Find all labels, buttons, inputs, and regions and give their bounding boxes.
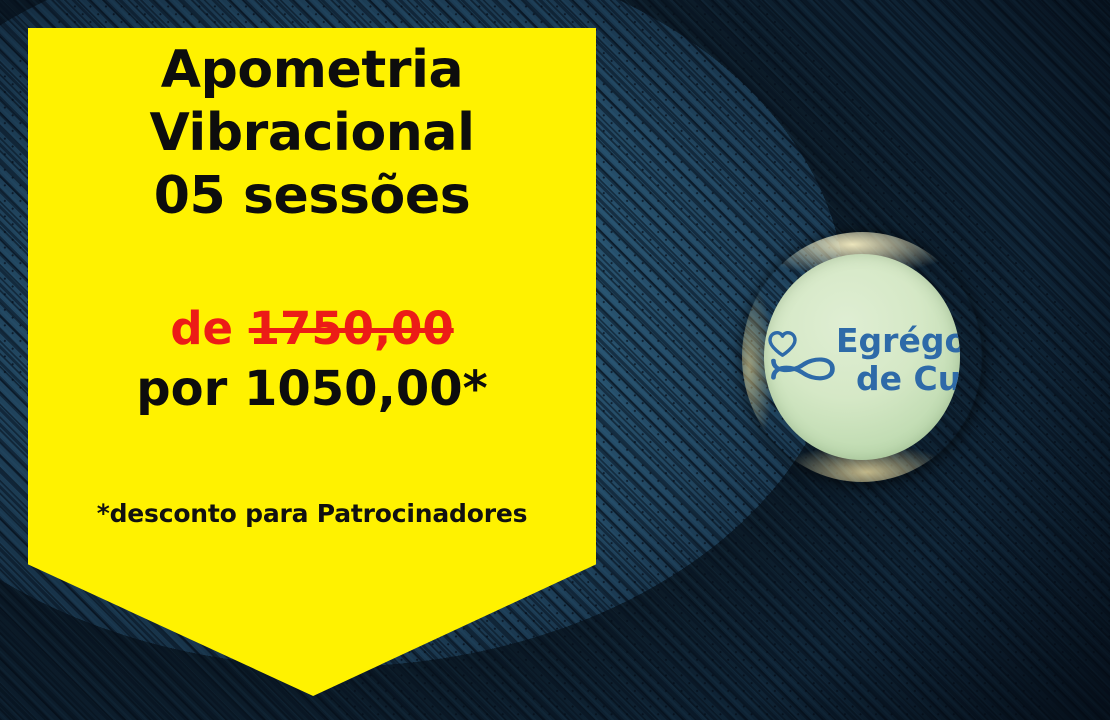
offer-title-line-2: Vibracional bbox=[28, 102, 596, 165]
offer-footnote: *desconto para Patrocinadores bbox=[28, 498, 596, 530]
heart-icon bbox=[770, 333, 795, 355]
emblem-face: Egrégora de Cura bbox=[764, 254, 960, 460]
new-price-prefix: por bbox=[136, 361, 244, 417]
offer-banner-content: Apometria Vibracional 05 sessões de 1750… bbox=[28, 28, 596, 530]
offer-title-line-1: Apometria bbox=[28, 39, 596, 102]
offer-banner: Apometria Vibracional 05 sessões de 1750… bbox=[28, 28, 596, 696]
old-price-row: de 1750,00 bbox=[28, 300, 596, 358]
brand-line-1-text: Egrégora bbox=[836, 321, 960, 360]
price-block: de 1750,00 por 1050,00* bbox=[28, 300, 596, 420]
infinity-icon bbox=[773, 360, 832, 379]
old-price-value: 1750,00 bbox=[249, 302, 454, 355]
offer-title-line-3: 05 sessões bbox=[28, 165, 596, 228]
offer-title: Apometria Vibracional 05 sessões bbox=[28, 39, 596, 228]
brand-emblem: Egrégora de Cura bbox=[742, 232, 982, 482]
brand-logo-svg: Egrégora de Cura bbox=[764, 310, 960, 400]
brand-line-2-text: de Cura bbox=[856, 359, 960, 398]
brand-logo: Egrégora de Cura bbox=[764, 310, 960, 400]
poster-canvas: Apometria Vibracional 05 sessões de 1750… bbox=[0, 0, 1110, 720]
old-price-prefix: de bbox=[170, 302, 248, 355]
new-price-value: 1050,00* bbox=[244, 361, 488, 417]
new-price-row: por 1050,00* bbox=[28, 358, 596, 420]
